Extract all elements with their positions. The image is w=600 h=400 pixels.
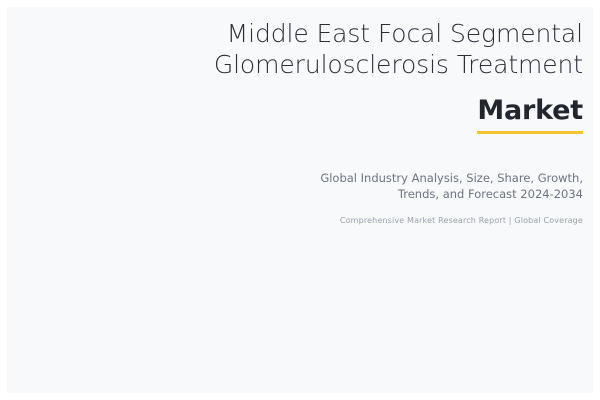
- report-subtitle: Global Industry Analysis, Size, Share, G…: [180, 170, 583, 202]
- cover-text-block: Middle East Focal Segmental Glomeruloscl…: [180, 18, 583, 226]
- report-cover-page: Middle East Focal Segmental Glomeruloscl…: [0, 0, 600, 400]
- market-heading: Market: [477, 96, 583, 134]
- market-heading-wrap: Market: [180, 96, 583, 134]
- page-title: Middle East Focal Segmental Glomeruloscl…: [180, 18, 583, 80]
- report-tagline: Comprehensive Market Research Report | G…: [180, 215, 583, 226]
